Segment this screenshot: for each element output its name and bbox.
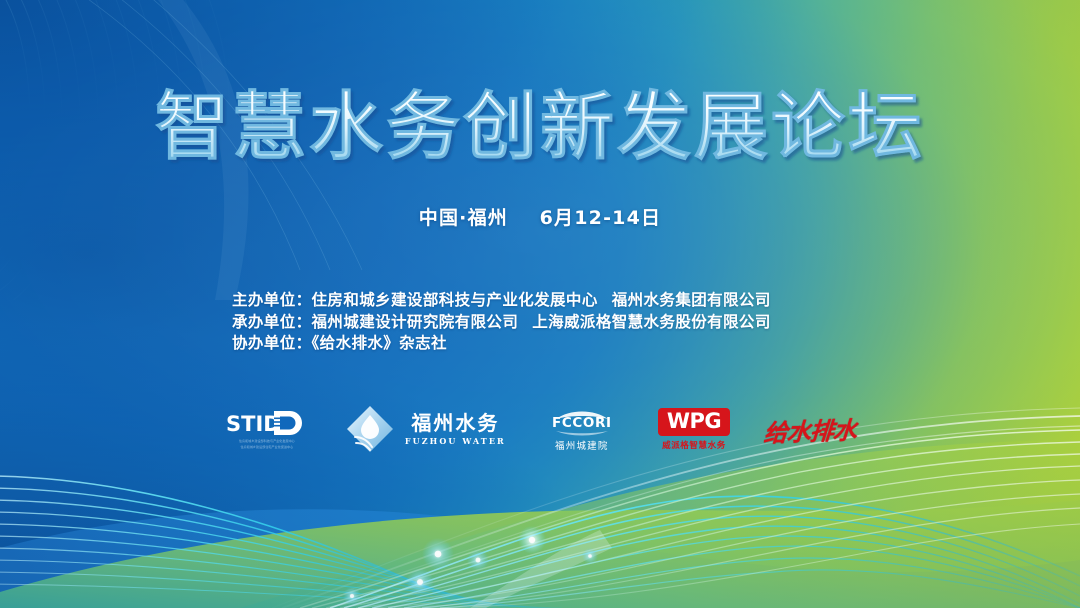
organizer-coorg-1: 福州城建设计研究院有限公司 [312,313,519,331]
stid-fine-print-2: 住房和城乡建设部住宅产业化促进中心 [224,446,310,449]
organizer-host-2: 福州水务集团有限公司 [612,291,771,309]
organizer-line-supporter: 协办单位：《给水排水》杂志社 [232,333,932,355]
fccori-cn: 福州城建院 [540,438,624,452]
logo-water-supply-drainage: 给水排水 [764,400,856,458]
organizers-block: 主办单位：住房和城乡建设部科技与产业化发展中心福州水务集团有限公司 承办单位：福… [232,290,932,355]
organizer-line-host: 主办单位：住房和城乡建设部科技与产业化发展中心福州水务集团有限公司 [232,290,932,312]
stid-fine-print-1: 住房和城乡建设部科技与产业化发展中心 [224,440,310,443]
fuzhou-water-cn: 福州水务 [411,412,499,434]
fuzhou-water-en: FUZHOU WATER [405,436,506,446]
water-supply-drainage-cn: 给水排水 [763,410,858,448]
logo-fuzhou-water: 福州水务 FUZHOU WATER [344,400,506,458]
stid-mark-icon: STID [224,408,310,438]
wpg-badge: WPG [658,408,730,436]
organizer-supporter-1: 《给水排水》杂志社 [312,334,447,352]
subtitle-location: 中国·福州 [419,207,508,229]
subtitle-block: 中国·福州 6月12-14日 [0,203,1080,230]
logo-fccori: FCCORI 福州城建院 [540,400,624,458]
sponsor-logo-strip: STID 住房和城乡建设部科技与产业化发展中心 住房和城乡建设部住宅产业化促进中… [0,398,1080,460]
fuzhou-water-droplet-icon [344,403,396,455]
organizer-coorg-2: 上海威派格智慧水务股份有限公司 [532,313,771,331]
subtitle-date: 6月12-14日 [540,207,662,229]
fccori-en: FCCORI [540,415,624,431]
logo-stid: STID 住房和城乡建设部科技与产业化发展中心 住房和城乡建设部住宅产业化促进中… [224,400,310,458]
poster-canvas: 智慧水务创新发展论坛 中国·福州 6月12-14日 主办单位：住房和城乡建设部科… [0,0,1080,608]
organizer-label-host: 主办单位： [232,291,312,309]
organizer-host-1: 住房和城乡建设部科技与产业化发展中心 [312,291,598,309]
organizer-label-supporter: 协办单位： [232,334,312,352]
stid-d-glyph [274,411,302,435]
logo-wpg: WPG 威派格智慧水务 [658,400,730,458]
organizer-line-coorganizer: 承办单位：福州城建设计研究院有限公司上海威派格智慧水务股份有限公司 [232,312,932,334]
wpg-cn: 威派格智慧水务 [662,439,726,451]
organizer-label-coorganizer: 承办单位： [232,313,312,331]
fuzhou-water-text: 福州水务 FUZHOU WATER [405,412,506,446]
